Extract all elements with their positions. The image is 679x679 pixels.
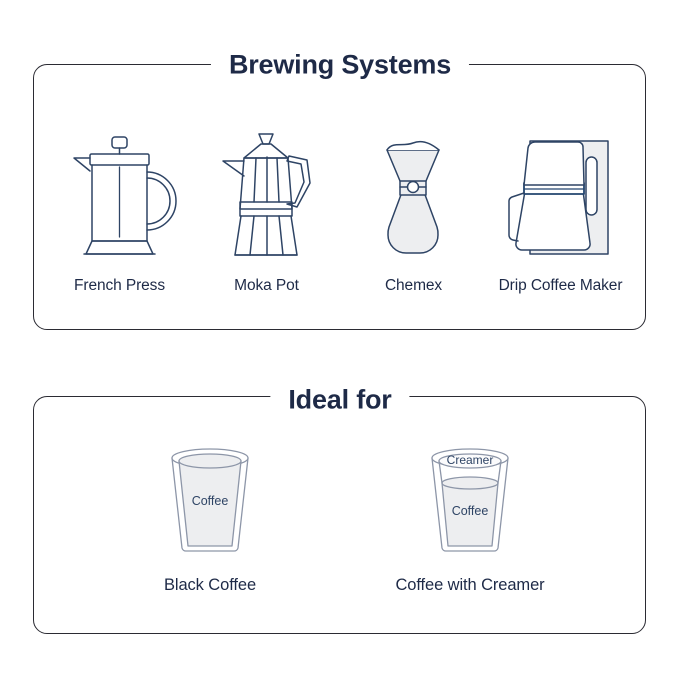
ideal-item-label: Black Coffee (164, 576, 256, 595)
brewing-item-french-press[interactable]: French Press (46, 131, 193, 295)
drip-coffee-maker-icon (498, 131, 624, 266)
ideal-for-items: Coffee Black Coffee (80, 435, 600, 595)
brewing-item-label: Moka Pot (234, 277, 299, 295)
brewing-systems-items: French Press (45, 110, 635, 295)
brewing-item-chemex[interactable]: Chemex (340, 131, 487, 295)
cup-layer-label-creamer: Creamer (447, 453, 494, 467)
brewing-item-label: French Press (74, 277, 165, 295)
brewing-item-label: Chemex (385, 277, 442, 295)
moka-pot-icon (211, 131, 323, 266)
cup-coffee-with-creamer-wrap[interactable]: Creamer Coffee Coffee with Creamer (340, 442, 600, 595)
cup-layer-label-coffee: Coffee (452, 504, 489, 518)
ideal-item-black-coffee[interactable]: Coffee Black Coffee (80, 442, 340, 595)
infographic-page: Brewing Systems (0, 0, 679, 679)
cup-black-coffee-icon: Coffee (156, 442, 264, 562)
cup-coffee-with-creamer-icon: Creamer Coffee (416, 442, 524, 562)
brewing-item-drip-coffee-maker[interactable]: Drip Coffee Maker (487, 131, 634, 295)
brewing-item-moka-pot[interactable]: Moka Pot (193, 131, 340, 295)
ideal-item-label: Coffee with Creamer (395, 576, 544, 595)
ideal-for-title: Ideal for (270, 387, 409, 414)
french-press-icon (67, 131, 172, 266)
brewing-item-label: Drip Coffee Maker (499, 277, 623, 295)
chemex-icon (365, 131, 463, 266)
brewing-systems-title: Brewing Systems (211, 52, 469, 79)
cup-layer-label-coffee: Coffee (192, 494, 229, 508)
